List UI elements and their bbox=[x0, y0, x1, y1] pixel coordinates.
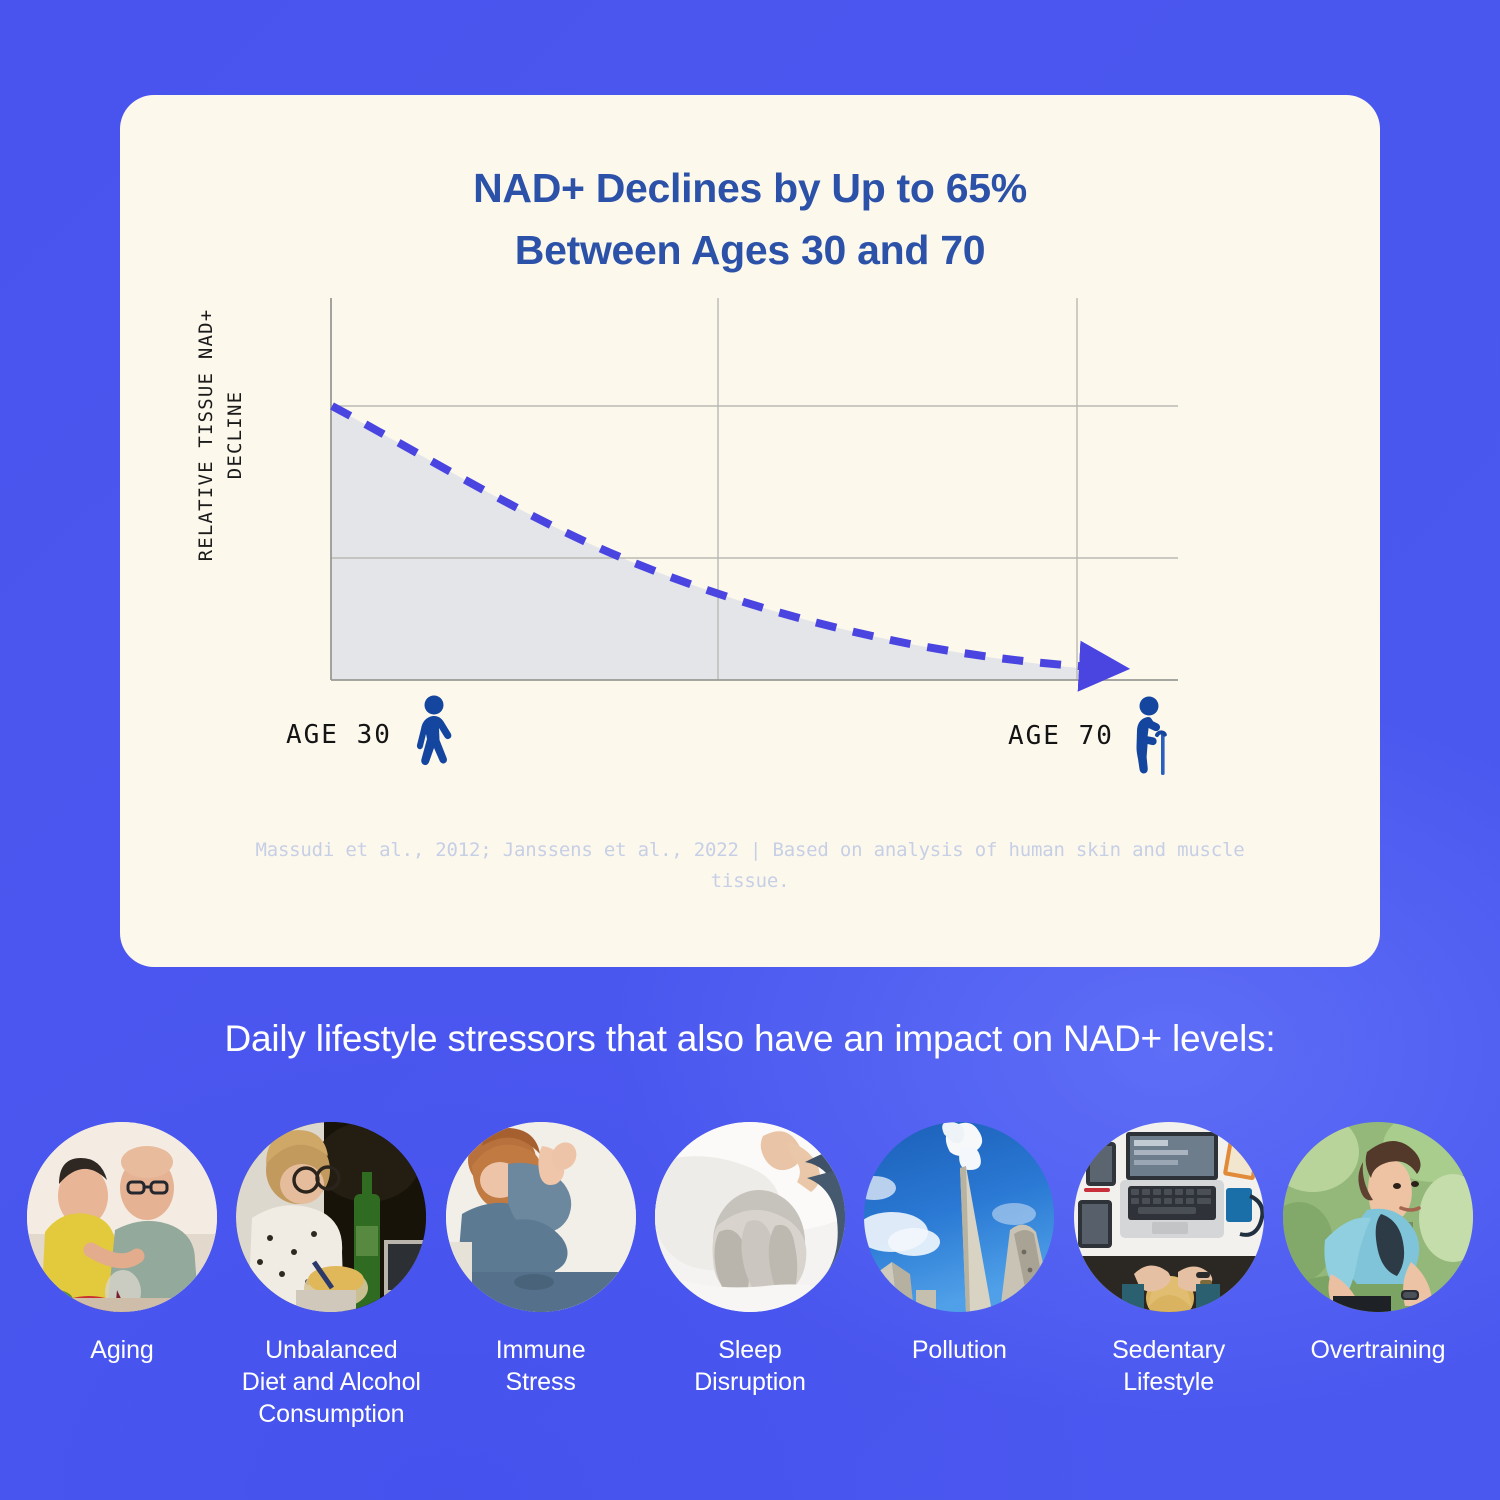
chart-svg bbox=[120, 95, 1380, 715]
woman-sneezing-into-elbow-photo bbox=[446, 1122, 636, 1312]
stressor-item-sedentary-lifestyle[interactable]: Sedentary Lifestyle bbox=[1069, 1122, 1269, 1398]
stressor-item-pollution[interactable]: Pollution bbox=[859, 1122, 1059, 1366]
stressors-row: Aging bbox=[22, 1122, 1478, 1430]
stressor-label: Overtraining bbox=[1310, 1334, 1445, 1366]
stressor-label: Sleep Disruption bbox=[694, 1334, 806, 1398]
stressor-label: Pollution bbox=[912, 1334, 1007, 1366]
stressor-label: Aging bbox=[90, 1334, 153, 1366]
stressor-label: Sedentary Lifestyle bbox=[1112, 1334, 1225, 1398]
stressor-item-sleep-disruption[interactable]: Sleep Disruption bbox=[650, 1122, 850, 1398]
stressors-heading: Daily lifestyle stressors that also have… bbox=[0, 1018, 1500, 1060]
stressor-label: Immune Stress bbox=[496, 1334, 586, 1398]
chart-area-fill bbox=[331, 406, 1103, 680]
chart-source-citation: Massudi et al., 2012; Janssens et al., 2… bbox=[250, 835, 1250, 898]
walking-person-icon bbox=[406, 695, 458, 775]
stressor-item-aging[interactable]: Aging bbox=[22, 1122, 222, 1366]
overhead-desk-laptop-photo bbox=[1074, 1122, 1264, 1312]
person-in-bed-pillows-photo bbox=[655, 1122, 845, 1312]
source-line-1: Massudi et al., 2012; Janssens et al., 2… bbox=[255, 839, 997, 861]
elderly-couple-cooking-photo bbox=[27, 1122, 217, 1312]
woman-late-night-snacks-beer-photo bbox=[236, 1122, 426, 1312]
age-70-marker: AGE 70 bbox=[1008, 695, 1174, 777]
age-70-label: AGE 70 bbox=[1008, 721, 1114, 751]
age-30-label: AGE 30 bbox=[286, 720, 392, 750]
age-30-marker: AGE 30 bbox=[286, 695, 458, 775]
elderly-person-with-cane-icon bbox=[1128, 695, 1174, 777]
stressor-item-overtraining[interactable]: Overtraining bbox=[1278, 1122, 1478, 1366]
stressor-item-unbalanced-diet[interactable]: Unbalanced Diet and Alcohol Consumption bbox=[231, 1122, 431, 1430]
stressor-item-immune-stress[interactable]: Immune Stress bbox=[441, 1122, 641, 1398]
factory-smokestack-sky-photo bbox=[864, 1122, 1054, 1312]
stressor-label: Unbalanced Diet and Alcohol Consumption bbox=[242, 1334, 421, 1430]
exhausted-runner-park-photo bbox=[1283, 1122, 1473, 1312]
nad-decline-chart-card: NAD+ Declines by Up to 65% Between Ages … bbox=[120, 95, 1380, 967]
